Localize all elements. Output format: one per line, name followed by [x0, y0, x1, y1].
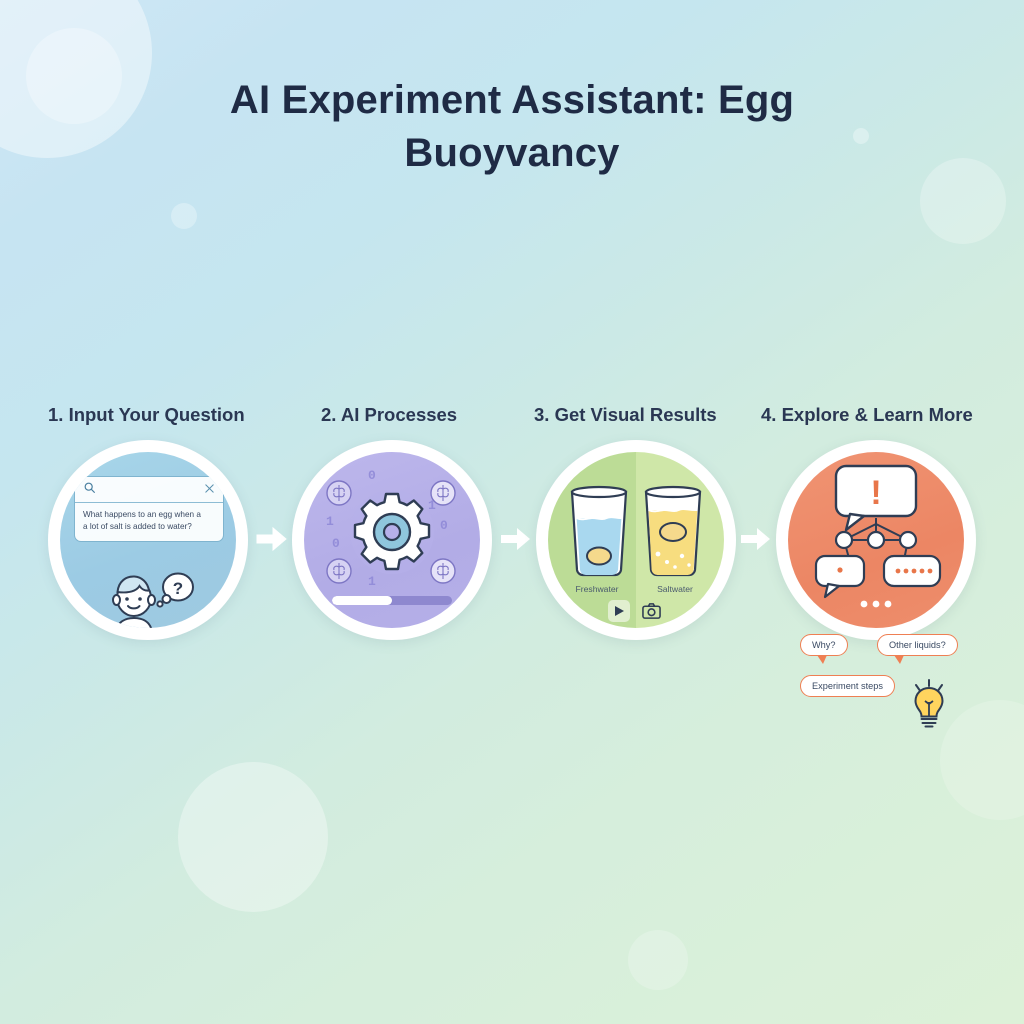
- svg-text:!: !: [870, 474, 881, 512]
- close-icon[interactable]: [204, 481, 215, 499]
- search-box[interactable]: What happens to an egg when a a lot of s…: [74, 476, 224, 542]
- decorative-circle: [171, 203, 197, 229]
- decorative-circle: [628, 930, 688, 990]
- step-circle-1[interactable]: What happens to an egg when a a lot of s…: [48, 440, 248, 640]
- search-box-header: [75, 477, 223, 503]
- step-3-content: Freshwater Saltwater: [548, 452, 724, 628]
- binary-digit: 0: [368, 468, 376, 483]
- play-button[interactable]: [608, 600, 630, 622]
- page-title: AI Experiment Assistant: Egg Buoyvancy: [0, 74, 1024, 180]
- binary-digit: 0: [332, 536, 340, 551]
- person-avatar: ?: [104, 570, 196, 628]
- chip-other-liquids[interactable]: Other liquids?: [877, 634, 958, 656]
- decorative-circle: [940, 700, 1024, 820]
- search-input[interactable]: What happens to an egg when a a lot of s…: [75, 503, 223, 541]
- search-icon: [83, 481, 96, 499]
- search-value-line1: What happens to an egg when a: [83, 509, 215, 521]
- decorative-circle: [178, 762, 328, 912]
- progress-bar-fill: [332, 596, 392, 605]
- arrow-right-icon: [499, 524, 533, 554]
- chip-experiment-steps[interactable]: Experiment steps: [800, 675, 895, 697]
- chip-why[interactable]: Why?: [800, 634, 848, 656]
- step-4-content: !: [788, 452, 964, 628]
- arrow-right-icon: [739, 524, 773, 554]
- progress-bar: [332, 596, 452, 605]
- svg-text:?: ?: [173, 579, 183, 598]
- step-2-content: 0 1 0 1 0 1: [304, 452, 480, 628]
- glass-comparison-illustration: [548, 466, 724, 596]
- arrow-right-icon: [255, 524, 289, 554]
- step-label-4: 4. Explore & Learn More: [761, 404, 973, 426]
- infographic-canvas: AI Experiment Assistant: Egg Buoyvancy 1…: [0, 0, 1024, 1024]
- step-circle-4[interactable]: !: [776, 440, 976, 640]
- camera-button[interactable]: [640, 600, 662, 622]
- page-title-line2: Buoyvancy: [0, 127, 1024, 180]
- camera-icon: [642, 603, 661, 619]
- binary-digit: 1: [326, 514, 334, 529]
- glass-label-freshwater: Freshwater: [562, 584, 632, 594]
- step-circle-2[interactable]: 0 1 0 1 0 1: [292, 440, 492, 640]
- page-title-line1: AI Experiment Assistant: Egg: [0, 74, 1024, 127]
- play-icon: [614, 605, 625, 617]
- step-label-2: 2. AI Processes: [321, 404, 457, 426]
- gear-icon: [348, 488, 436, 581]
- knowledge-graph-illustration: !: [788, 452, 964, 628]
- glass-label-saltwater: Saltwater: [640, 584, 710, 594]
- search-value-line2: a lot of salt is added to water?: [83, 521, 215, 533]
- step-label-1: 1. Input Your Question: [48, 404, 245, 426]
- step-circle-3[interactable]: Freshwater Saltwater: [536, 440, 736, 640]
- lightbulb-icon: [908, 678, 950, 735]
- step-label-3: 3. Get Visual Results: [534, 404, 717, 426]
- binary-digit: 0: [440, 518, 448, 533]
- step-1-content: What happens to an egg when a a lot of s…: [60, 452, 236, 628]
